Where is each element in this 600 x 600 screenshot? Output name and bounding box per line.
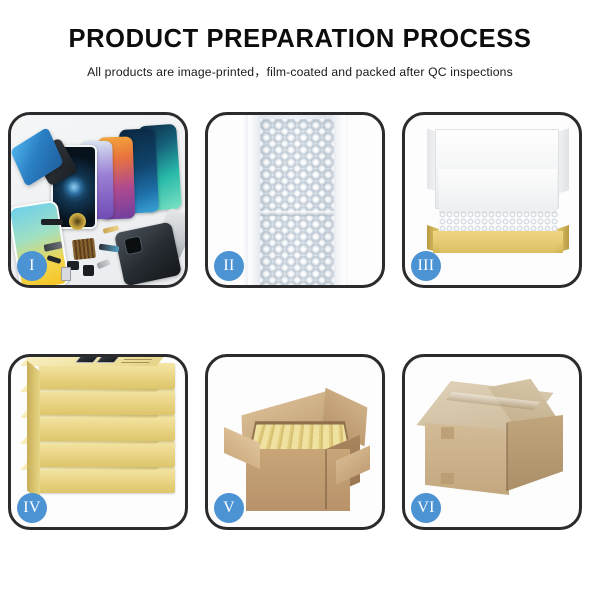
retail-box-label-spec-lines	[121, 357, 158, 363]
step-panel-3: III	[402, 112, 582, 288]
bubble-wrap-highlight-right	[328, 115, 346, 285]
bubble-wrap-seam	[260, 211, 334, 216]
sealed-carton-front	[425, 423, 509, 495]
step-badge-2: II	[214, 251, 244, 281]
page-subtitle: All products are image-printed，film-coat…	[0, 62, 600, 80]
process-steps-grid: I II III	[8, 112, 592, 530]
sealed-carton-side	[507, 415, 563, 491]
step-panel-2: II	[205, 112, 385, 288]
retail-box	[39, 441, 175, 467]
header: PRODUCT PREPARATION PROCESS All products…	[0, 0, 600, 80]
step-panel-4: Mobile Phone Spare Parts Mobile Phone Sp…	[8, 354, 188, 530]
sealed-carton-handle-cutout-bottom	[441, 473, 454, 484]
retail-box	[39, 415, 175, 441]
step-panel-1: I	[8, 112, 188, 288]
step-badge-4: IV	[17, 493, 47, 523]
sealed-carton-corner-edge	[506, 423, 508, 491]
step-badge-1: I	[17, 251, 47, 281]
step-badge-5: V	[214, 493, 244, 523]
page-title: PRODUCT PREPARATION PROCESS	[0, 26, 600, 54]
chip-grid-part	[72, 238, 96, 260]
retail-box: Mobile Phone Spare Parts	[39, 389, 175, 415]
bubble-wrap-highlight-left	[248, 115, 262, 285]
step-panel-6: VI	[402, 354, 582, 530]
carton-body-front	[246, 449, 350, 511]
battery-part	[41, 219, 63, 225]
mailer-base-front	[433, 231, 563, 253]
bubble-wrap-bubbles-row-b	[260, 119, 334, 285]
sim-tray-part	[61, 267, 71, 281]
step-panel-5: V	[205, 354, 385, 530]
retail-box-label-phone-image	[96, 357, 123, 363]
step-badge-3: III	[411, 251, 441, 281]
mailer-foam-sheet	[439, 169, 557, 213]
phone-back-housing	[114, 222, 182, 285]
sealed-carton-handle-cutout-top	[441, 427, 454, 439]
mailer-bubble-wrapped-items	[439, 211, 559, 233]
retail-box-top: Mobile Phone Spare Parts	[20, 357, 169, 366]
step-badge-6: VI	[411, 493, 441, 523]
carton-corner-edge	[325, 449, 327, 509]
retail-box: Mobile Phone Spare Parts	[39, 363, 175, 389]
speaker-coil-part	[69, 213, 86, 230]
retail-box	[39, 467, 175, 493]
camera-module-part	[83, 265, 94, 276]
